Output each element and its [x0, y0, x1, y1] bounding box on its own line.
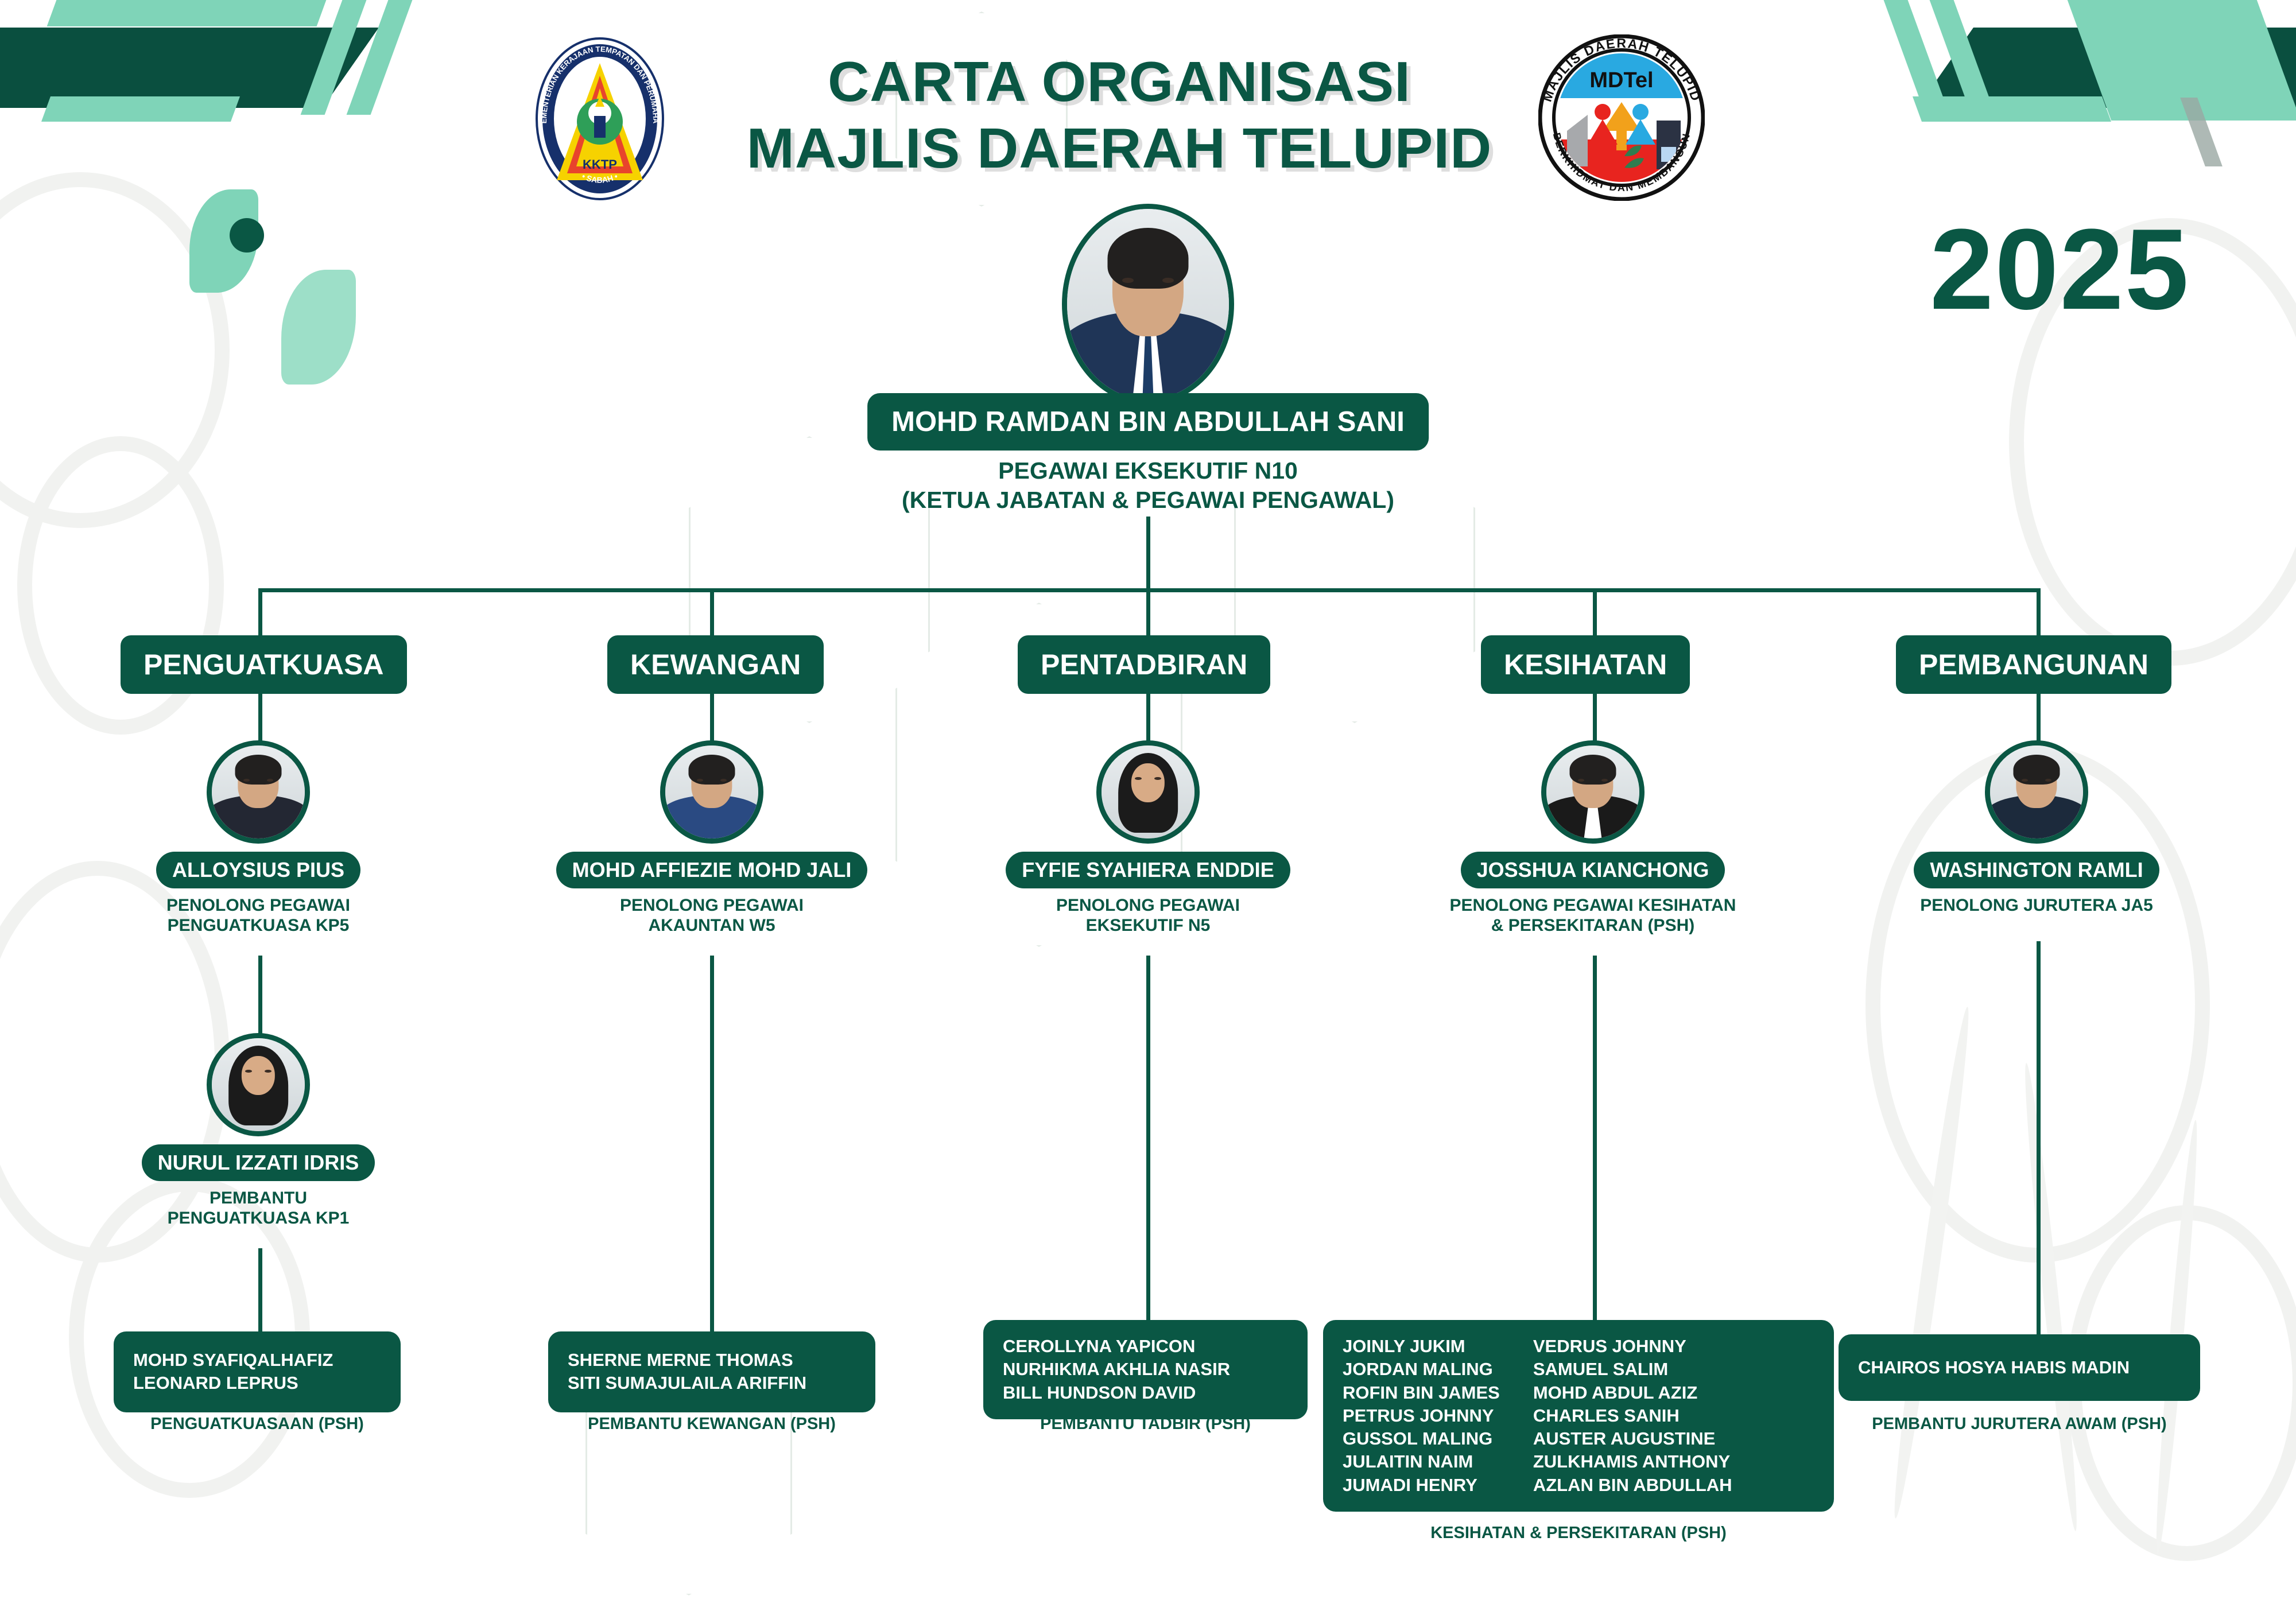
staff-name: MOHD AFFIEZIE MOHD JALI [556, 852, 868, 888]
list-item: ZULKHAMIS ANTHONY [1533, 1450, 1732, 1473]
list-item: MOHD ABDUL AZIZ [1533, 1381, 1732, 1404]
staff-node-alloysius-pius: ALLOYSIUS PIUS PENOLONG PEGAWAI PENGUATK… [103, 740, 413, 936]
list-caption-penguatkuasa: PENGUATKUASAAN (PSH) [114, 1415, 401, 1434]
staff-role: PENOLONG PEGAWAI PENGUATKUASA KP5 [103, 895, 413, 936]
executive-node: MOHD RAMDAN BIN ABDULLAH SANI PEGAWAI EK… [1027, 204, 1269, 405]
staff-role: PENOLONG JURUTERA JA5 [1841, 895, 2232, 915]
connector-pentadbiran-to-box [1146, 956, 1150, 1326]
list-item: JULAITIN NAIM [1343, 1450, 1500, 1473]
list-item: JORDAN MALING [1343, 1358, 1500, 1381]
connector-kesihatan-to-box [1593, 956, 1597, 1326]
list-item: LEONARD LEPRUS [133, 1372, 381, 1395]
executive-role: PEGAWAI EKSEKUTIF N10 (KETUA JABATAN & P… [902, 456, 1394, 515]
staff-node-josshua-kianchong: JOSSHUA KIANCHONG PENOLONG PEGAWAI KESIH… [1392, 740, 1794, 936]
list-item: CHARLES SANIH [1533, 1404, 1732, 1427]
staff-node-mohd-affiezie-mohd-jali: MOHD AFFIEZIE MOHD JALI PENOLONG PEGAWAI… [528, 740, 895, 936]
poster-header: KKTP KEMENTERIAN KERAJAAN TEMPATAN DAN P… [0, 23, 2296, 207]
connector-drop-kewangan [710, 588, 714, 641]
list-column-left: JOINLY JUKIM JORDAN MALING ROFIN BIN JAM… [1343, 1335, 1500, 1497]
department-pill-pembangunan[interactable]: PEMBANGUNAN [1896, 635, 2171, 694]
staff-name: NURUL IZZATI IDRIS [142, 1144, 375, 1181]
list-item: ROFIN BIN JAMES [1343, 1381, 1500, 1404]
list-box-penguatkuasa: MOHD SYAFIQALHAFIZ LEONARD LEPRUS [114, 1331, 401, 1412]
list-item: MOHD SYAFIQALHAFIZ [133, 1349, 381, 1372]
list-item: SAMUEL SALIM [1533, 1358, 1732, 1381]
list-item: PETRUS JOHNNY [1343, 1404, 1500, 1427]
list-box-kewangan: SHERNE MERNE THOMAS SITI SUMAJULAILA ARI… [548, 1331, 875, 1412]
staff-role: PENOLONG PEGAWAI KESIHATAN & PERSEKITARA… [1392, 895, 1794, 936]
staff-avatar [1985, 740, 2088, 844]
department-pill-pentadbiran[interactable]: PENTADBIRAN [1018, 635, 1270, 694]
list-box-kesihatan: JOINLY JUKIM JORDAN MALING ROFIN BIN JAM… [1323, 1320, 1834, 1512]
staff-name: WASHINGTON RAMLI [1914, 852, 2159, 888]
list-box-pentadbiran: CEROLLYNA YAPICON NURHIKMA AKHLIA NASIR … [983, 1320, 1308, 1419]
list-caption-kewangan: PEMBANTU KEWANGAN (PSH) [548, 1415, 875, 1434]
executive-name: MOHD RAMDAN BIN ABDULLAH SANI [867, 393, 1429, 451]
staff-avatar [1096, 740, 1200, 844]
staff-node-fyfie-syahiera-enddie: FYFIE SYAHIERA ENDDIE PENOLONG PEGAWAI E… [964, 740, 1332, 936]
kktp-crest-logo: KKTP KEMENTERIAN KERAJAAN TEMPATAN DAN P… [534, 36, 666, 202]
connector-kewangan-to-box [710, 956, 714, 1334]
staff-avatar [207, 740, 310, 844]
list-caption-kesihatan: KESIHATAN & PERSEKITARAN (PSH) [1323, 1524, 1834, 1543]
list-item: SITI SUMAJULAILA ARIFFIN [568, 1372, 856, 1395]
list-item: GUSSOL MALING [1343, 1427, 1500, 1450]
organization-chart-poster: KKTP KEMENTERIAN KERAJAAN TEMPATAN DAN P… [0, 0, 2296, 1623]
department-pill-penguatkuasa[interactable]: PENGUATKUASA [121, 635, 407, 694]
poster-title: CARTA ORGANISASI MAJLIS DAERAH TELUPID [689, 49, 1550, 181]
staff-name: JOSSHUA KIANCHONG [1461, 852, 1725, 888]
svg-text:KKTP: KKTP [583, 157, 617, 172]
connector-drop-pentadbiran [1146, 588, 1150, 641]
executive-role-line-1: PEGAWAI EKSEKUTIF N10 [902, 456, 1394, 486]
list-column-right: VEDRUS JOHNNY SAMUEL SALIM MOHD ABDUL AZ… [1533, 1335, 1732, 1497]
connector-penguatkuasa-1-to-2 [258, 956, 262, 1042]
staff-avatar [207, 1033, 310, 1136]
list-item: AUSTER AUGUSTINE [1533, 1427, 1732, 1450]
list-item: CEROLLYNA YAPICON [1003, 1335, 1288, 1358]
staff-name: ALLOYSIUS PIUS [156, 852, 360, 888]
executive-avatar [1062, 204, 1234, 405]
svg-text:MDTel: MDTel [1589, 68, 1653, 92]
department-pill-kesihatan[interactable]: KESIHATAN [1481, 635, 1690, 694]
staff-node-nurul-izzati-idris: NURUL IZZATI IDRIS PEMBANTU PENGUATKUASA… [103, 1033, 413, 1229]
staff-avatar [660, 740, 763, 844]
title-line-1: CARTA ORGANISASI [680, 49, 1558, 115]
staff-node-washington-ramli: WASHINGTON RAMLI PENOLONG JURUTERA JA5 [1841, 740, 2232, 915]
poster-year: 2025 [1930, 204, 2190, 336]
connector-drop-pembangunan [2037, 588, 2041, 641]
list-caption-pembangunan: PEMBANTU JURUTERA AWAM (PSH) [1839, 1415, 2200, 1434]
connector-exec-stem [1146, 517, 1150, 591]
connector-pembangunan-to-box [2037, 941, 2041, 1343]
staff-role: PENOLONG PEGAWAI AKAUNTAN W5 [528, 895, 895, 936]
list-item: SHERNE MERNE THOMAS [568, 1349, 856, 1372]
list-caption-pentadbiran: PEMBANTU TADBIR (PSH) [983, 1415, 1308, 1434]
list-item: JUMADI HENRY [1343, 1474, 1500, 1497]
staff-role: PEMBANTU PENGUATKUASA KP1 [103, 1188, 413, 1229]
staff-name: FYFIE SYAHIERA ENDDIE [1006, 852, 1290, 888]
list-item: JOINLY JUKIM [1343, 1335, 1500, 1358]
list-item: BILL HUNDSON DAVID [1003, 1381, 1288, 1404]
list-item: VEDRUS JOHNNY [1533, 1335, 1732, 1358]
connector-drop-kesihatan [1593, 588, 1597, 641]
staff-role: PENOLONG PEGAWAI EKSEKUTIF N5 [964, 895, 1332, 936]
title-line-2: MAJLIS DAERAH TELUPID [680, 115, 1558, 182]
department-pill-kewangan[interactable]: KEWANGAN [607, 635, 824, 694]
mdtel-crest-logo: MDTel MAJLIS DAERAH TELUPID BERKHIDMAT D… [1538, 34, 1705, 201]
list-item: CHAIROS HOSYA HABIS MADIN [1858, 1356, 2181, 1379]
list-item: AZLAN BIN ABDULLAH [1533, 1474, 1732, 1497]
list-box-pembangunan: CHAIROS HOSYA HABIS MADIN [1839, 1334, 2200, 1401]
staff-avatar [1541, 740, 1645, 844]
connector-drop-penguatkuasa [258, 588, 262, 641]
executive-role-line-2: (KETUA JABATAN & PEGAWAI PENGAWAL) [902, 486, 1394, 515]
connector-penguatkuasa-2-to-box [258, 1248, 262, 1331]
list-item: NURHIKMA AKHLIA NASIR [1003, 1358, 1288, 1381]
